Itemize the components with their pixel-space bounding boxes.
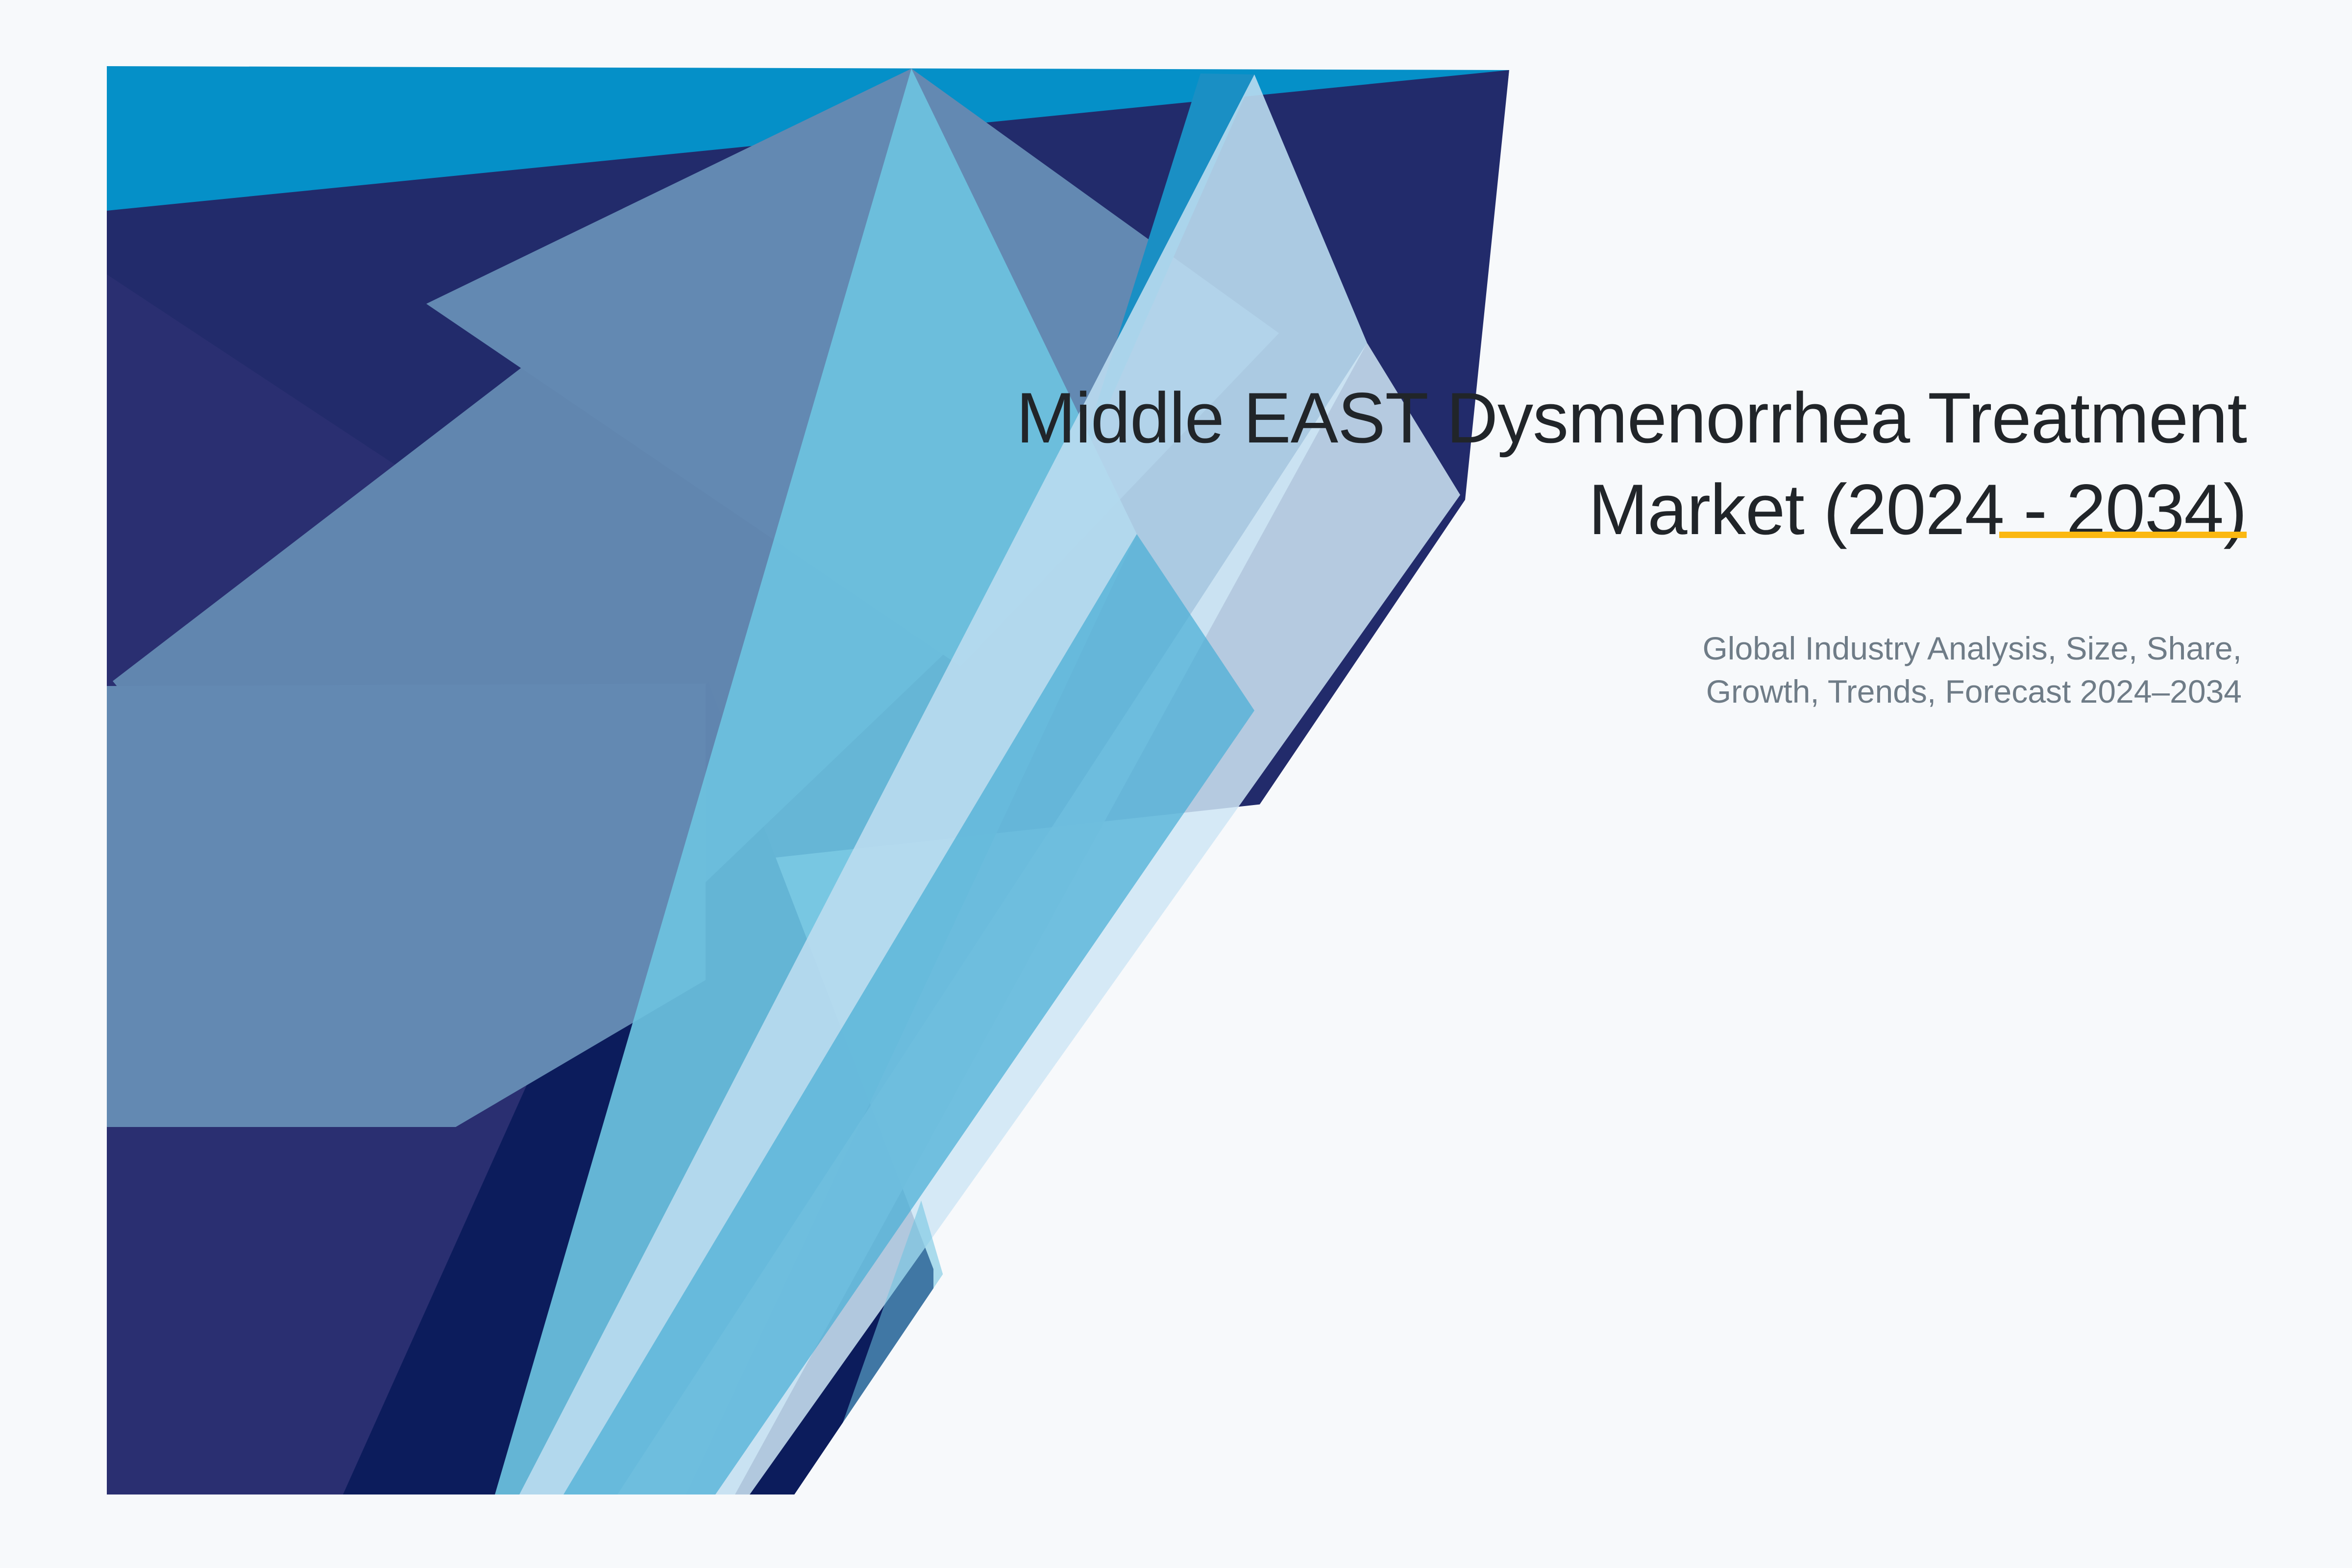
report-cover: Middle EAST Dysmenorrhea Treatment Marke… bbox=[0, 0, 2352, 1568]
abstract-polygon-graphic bbox=[0, 0, 2352, 1568]
artwork-mask-top bbox=[0, 0, 2352, 66]
cover-text-block: Middle EAST Dysmenorrhea Treatment Marke… bbox=[759, 372, 2247, 713]
page-subtitle: Global Industry Analysis, Size, Share, G… bbox=[759, 627, 2247, 713]
artwork-mask-left bbox=[0, 0, 107, 1568]
title-accent-underline bbox=[1999, 532, 2247, 538]
page-title: Middle EAST Dysmenorrhea Treatment Marke… bbox=[759, 372, 2247, 556]
